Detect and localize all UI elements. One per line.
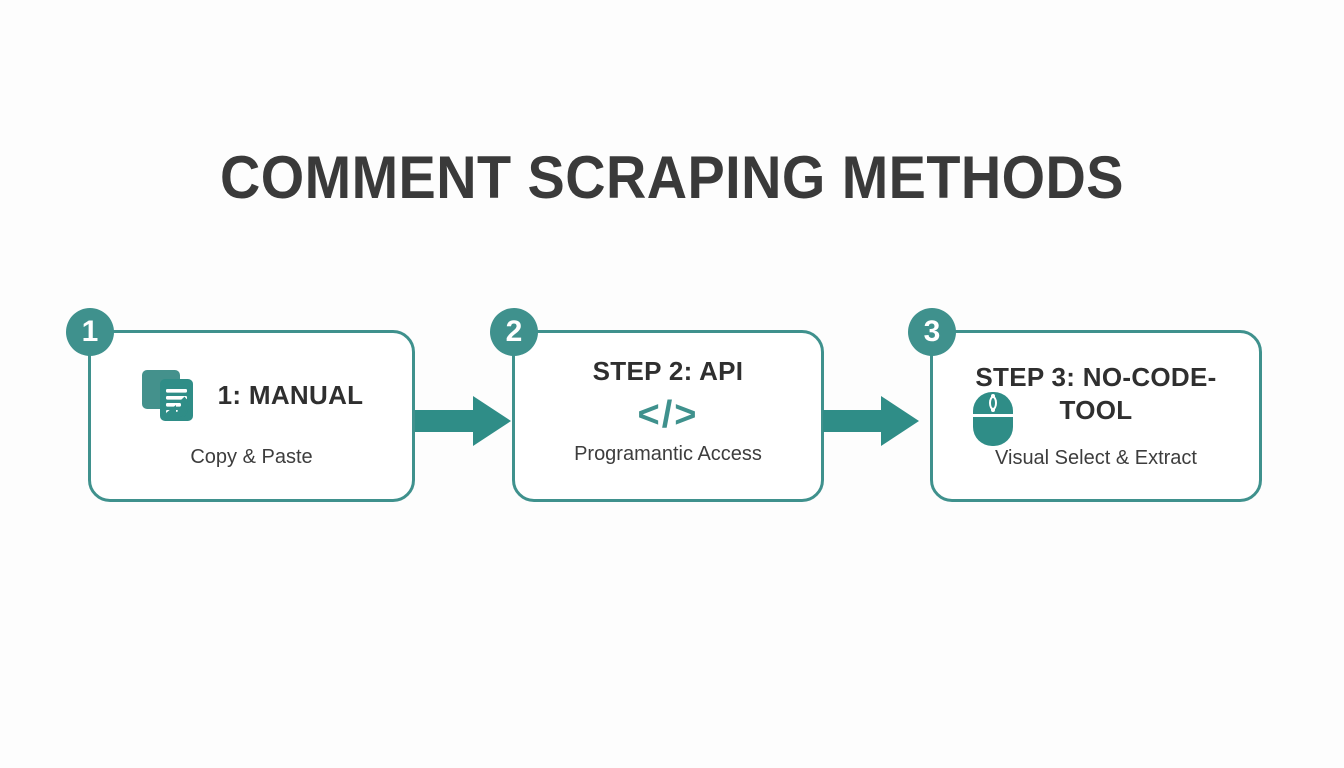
step-card-api[interactable]: 2 STEP 2: API </> Programantic Access <box>512 330 824 502</box>
copy-paste-icon <box>140 361 204 430</box>
step-1-title: 1: MANUAL <box>218 379 364 412</box>
step-1-header: 1: MANUAL <box>91 361 412 430</box>
step-2-subtitle: Programantic Access <box>574 442 762 466</box>
step-card-no-code-tool[interactable]: 3 STEP 3: NO-CODE-TOOL Visual Select & E… <box>930 330 1262 502</box>
diagram-canvas: COMMENT SCRAPING METHODS 1 <box>0 0 1344 768</box>
step-2-title: STEP 2: API <box>593 355 744 388</box>
mouse-icon <box>971 390 1015 453</box>
step-1-subtitle: Copy & Paste <box>91 445 412 469</box>
arrow-step1-to-step2 <box>415 396 511 451</box>
step-badge-1: 1 <box>66 308 114 356</box>
step-2-content: STEP 2: API </> Programantic Access <box>515 355 821 466</box>
arrow-step2-to-step3 <box>823 396 919 451</box>
step-badge-3: 3 <box>908 308 956 356</box>
step-card-manual[interactable]: 1 <box>88 330 415 502</box>
page-title: COMMENT SCRAPING METHODS <box>47 143 1297 213</box>
step-badge-2: 2 <box>490 308 538 356</box>
step-3-subtitle: Visual Select & Extract <box>933 446 1259 470</box>
code-brackets-icon: </> <box>638 394 699 436</box>
